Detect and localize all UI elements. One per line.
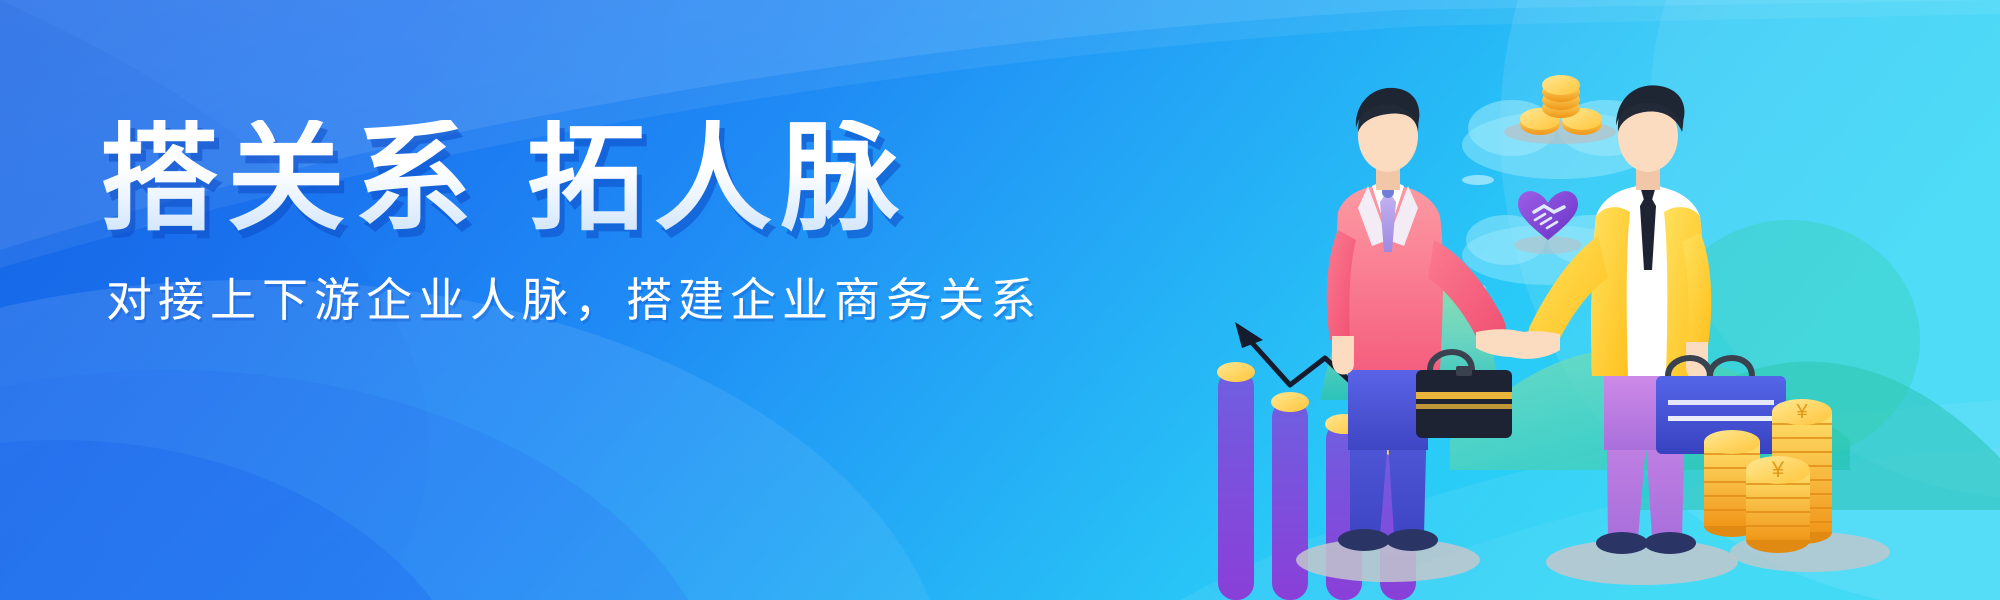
page-title: 搭关系拓人脉	[100, 120, 980, 238]
ground-shadow-coins	[1730, 532, 1890, 572]
ground-shadow-left	[1296, 538, 1480, 582]
coin-stacks: ¥ ¥	[1704, 399, 1832, 553]
banner-subtitle: 对接上下游企业人脉，搭建企业商务关系	[106, 264, 980, 330]
banner-text-block: 搭关系拓人脉 对接上下游企业人脉，搭建企业商务关系	[100, 120, 980, 330]
svg-text:¥: ¥	[1771, 457, 1785, 482]
trend-arrow-head-icon	[1235, 322, 1263, 348]
dark-briefcase	[1416, 352, 1512, 438]
businessman-right-yellow-vest	[1501, 85, 1712, 554]
bar-chart-with-coins	[1217, 362, 1417, 600]
blue-briefcase	[1656, 358, 1786, 454]
headline-part-1: 搭关系	[100, 113, 481, 245]
floating-cloud-coins	[1462, 75, 1662, 193]
businessman-left-pink-suit	[1327, 88, 1538, 551]
floating-cloud-handshake-heart	[1458, 191, 1645, 297]
svg-text:¥: ¥	[1795, 401, 1808, 423]
gold-coins-icon	[1520, 75, 1602, 135]
handshake-heart-icon	[1518, 191, 1578, 240]
trend-arrow-line-icon	[1245, 335, 1440, 412]
illustration-businessmen-handshake: ¥ ¥	[1020, 40, 2000, 600]
hill-shapes	[1320, 220, 2000, 510]
ground-shadow-right	[1546, 539, 1738, 585]
promo-banner: 搭关系拓人脉 对接上下游企业人脉，搭建企业商务关系	[0, 0, 2000, 600]
headline-part-2: 拓人脉	[527, 113, 908, 245]
